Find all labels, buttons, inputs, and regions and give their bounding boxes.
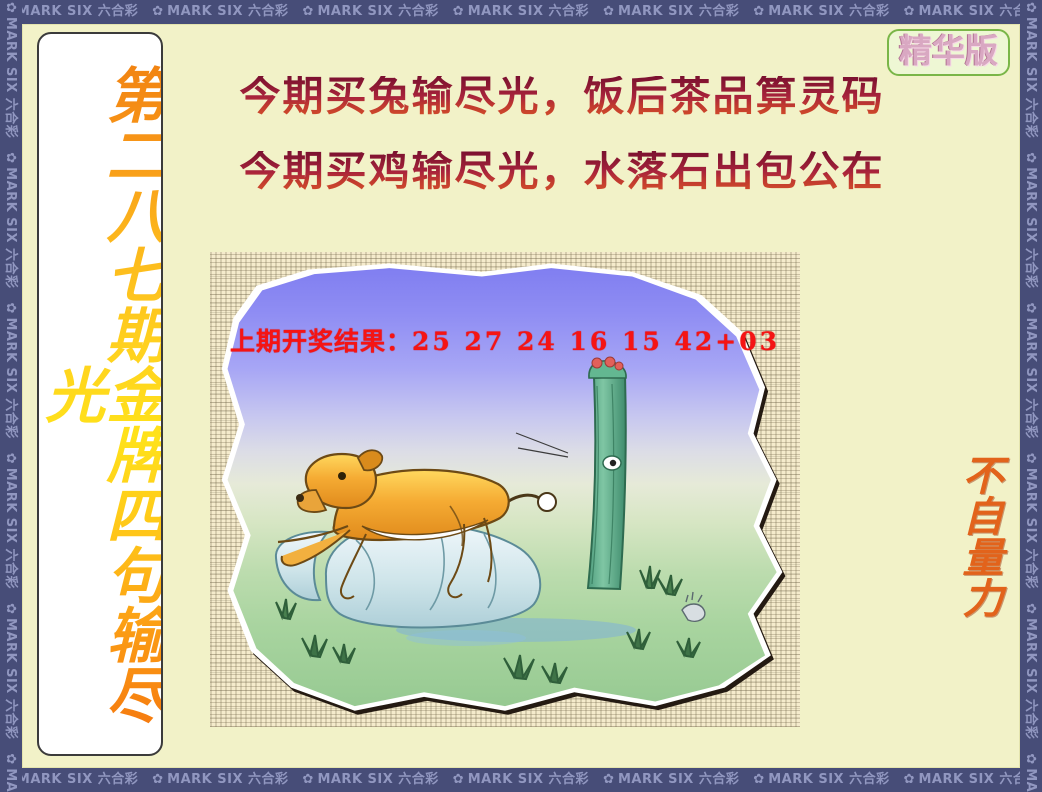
flower-icon: ✿	[3, 2, 18, 13]
edition-badge: 精华版	[887, 29, 1010, 76]
marquee-band-left: ✿MARK SIX 六合彩✿MARK SIX 六合彩✿MARK SIX 六合彩✿…	[0, 0, 22, 792]
flower-icon: ✿	[3, 603, 18, 614]
marquee-unit-label: MARK SIX 六合彩	[167, 772, 288, 787]
marquee-unit: ✿MARK SIX 六合彩	[453, 773, 589, 786]
marquee-unit-label: MARK SIX 六合彩	[1023, 17, 1038, 138]
marquee-unit: ✿MARK SIX 六合彩	[1024, 152, 1037, 288]
flower-icon: ✿	[453, 4, 464, 19]
marquee-text-top: ✿MARK SIX 六合彩✿MARK SIX 六合彩✿MARK SIX 六合彩✿…	[2, 5, 1042, 18]
marquee-unit: ✿MARK SIX 六合彩	[4, 303, 17, 439]
previous-draw-result: 上期开奖结果：25 27 24 16 15 42+03	[216, 322, 794, 358]
marquee-unit-label: MARK SIX 六合彩	[167, 4, 288, 19]
marquee-unit-label: MARK SIX 六合彩	[3, 468, 18, 589]
flower-icon: ✿	[152, 4, 163, 19]
marquee-unit: ✿MARK SIX 六合彩	[303, 773, 439, 786]
flower-icon: ✿	[303, 4, 314, 19]
flower-icon: ✿	[904, 4, 915, 19]
marquee-text-bottom: ✿MARK SIX 六合彩✿MARK SIX 六合彩✿MARK SIX 六合彩✿…	[2, 773, 1042, 786]
result-numbers: 25 27 24 16 15 42+03	[412, 327, 780, 356]
marquee-unit: ✿MARK SIX 六合彩	[4, 152, 17, 288]
marquee-unit-label: MARK SIX 六合彩	[768, 4, 889, 19]
flower-icon: ✿	[603, 772, 614, 787]
issue-title-text: 第二八七期金牌四句输尽光	[39, 38, 161, 750]
flower-icon: ✿	[1023, 152, 1038, 163]
marquee-unit: ✿MARK SIX 六合彩	[1024, 753, 1037, 792]
marquee-unit-label: MARK SIX 六合彩	[1023, 768, 1038, 792]
illustration-area: 上期开奖结果：25 27 24 16 15 42+03	[210, 252, 800, 727]
flower-icon: ✿	[3, 303, 18, 314]
marquee-unit-label: MARK SIX 六合彩	[3, 317, 18, 438]
marquee-band-right: ✿MARK SIX 六合彩✿MARK SIX 六合彩✿MARK SIX 六合彩✿…	[1020, 0, 1042, 792]
flower-icon: ✿	[3, 152, 18, 163]
marquee-unit-label: MARK SIX 六合彩	[3, 17, 18, 138]
flower-icon: ✿	[1023, 2, 1038, 13]
marquee-unit: ✿MARK SIX 六合彩	[1024, 303, 1037, 439]
headline-block: 今期买兔输尽光，饭后茶品算灵码 今期买鸡输尽光，水落石出包公在	[182, 76, 942, 226]
marquee-unit-label: MARK SIX 六合彩	[468, 772, 589, 787]
flower-icon: ✿	[1023, 753, 1038, 764]
marquee-unit-label: MARK SIX 六合彩	[618, 772, 739, 787]
marquee-text-right: ✿MARK SIX 六合彩✿MARK SIX 六合彩✿MARK SIX 六合彩✿…	[1024, 2, 1037, 792]
marquee-unit-label: MARK SIX 六合彩	[1023, 468, 1038, 589]
marquee-unit-label: MARK SIX 六合彩	[3, 167, 18, 288]
poster-page: 第二八七期金牌四句输尽光 精华版 今期买兔输尽光，饭后茶品算灵码 今期买鸡输尽光…	[22, 24, 1020, 768]
headline-line-1: 今期买兔输尽光，饭后茶品算灵码	[182, 76, 942, 117]
flower-icon: ✿	[3, 753, 18, 764]
marquee-unit-label: MARK SIX 六合彩	[3, 768, 18, 792]
marquee-unit: ✿MARK SIX 六合彩	[4, 453, 17, 589]
marquee-text-left: ✿MARK SIX 六合彩✿MARK SIX 六合彩✿MARK SIX 六合彩✿…	[4, 2, 17, 792]
marquee-unit-label: MARK SIX 六合彩	[468, 4, 589, 19]
marquee-unit: ✿MARK SIX 六合彩	[4, 603, 17, 739]
headline-line-2: 今期买鸡输尽光，水落石出包公在	[182, 151, 942, 192]
marquee-unit: ✿MARK SIX 六合彩	[152, 5, 288, 18]
flower-icon: ✿	[1023, 303, 1038, 314]
flower-icon: ✿	[1023, 603, 1038, 614]
flower-icon: ✿	[603, 4, 614, 19]
flower-icon: ✿	[152, 772, 163, 787]
marquee-unit: ✿MARK SIX 六合彩	[1024, 453, 1037, 589]
marquee-unit: ✿MARK SIX 六合彩	[603, 773, 739, 786]
flower-icon: ✿	[1023, 453, 1038, 464]
marquee-band-bottom: ✿MARK SIX 六合彩✿MARK SIX 六合彩✿MARK SIX 六合彩✿…	[0, 768, 1042, 792]
issue-title-panel: 第二八七期金牌四句输尽光	[37, 32, 163, 756]
marquee-unit-label: MARK SIX 六合彩	[3, 618, 18, 739]
marquee-unit: ✿MARK SIX 六合彩	[453, 5, 589, 18]
marquee-unit: ✿MARK SIX 六合彩	[303, 5, 439, 18]
flower-icon: ✿	[3, 453, 18, 464]
marquee-unit-label: MARK SIX 六合彩	[1023, 618, 1038, 739]
flower-icon: ✿	[904, 772, 915, 787]
marquee-unit: ✿MARK SIX 六合彩	[1024, 2, 1037, 138]
marquee-unit: ✿MARK SIX 六合彩	[4, 2, 17, 138]
marquee-unit: ✿MARK SIX 六合彩	[753, 773, 889, 786]
marquee-unit: ✿MARK SIX 六合彩	[152, 773, 288, 786]
marquee-unit-label: MARK SIX 六合彩	[17, 4, 138, 19]
flower-icon: ✿	[753, 4, 764, 19]
marquee-unit: ✿MARK SIX 六合彩	[753, 5, 889, 18]
marquee-unit: ✿MARK SIX 六合彩	[2, 773, 138, 786]
marquee-unit-label: MARK SIX 六合彩	[317, 4, 438, 19]
flower-icon: ✿	[753, 772, 764, 787]
marquee-unit: ✿MARK SIX 六合彩	[603, 5, 739, 18]
poster-canvas: ✿MARK SIX 六合彩✿MARK SIX 六合彩✿MARK SIX 六合彩✿…	[0, 0, 1042, 792]
torn-paper-cutout: 上期开奖结果：25 27 24 16 15 42+03	[216, 258, 794, 720]
flower-icon: ✿	[303, 772, 314, 787]
marquee-unit-label: MARK SIX 六合彩	[768, 772, 889, 787]
marquee-unit-label: MARK SIX 六合彩	[17, 772, 138, 787]
marquee-unit-label: MARK SIX 六合彩	[1023, 167, 1038, 288]
marquee-unit-label: MARK SIX 六合彩	[618, 4, 739, 19]
marquee-unit: ✿MARK SIX 六合彩	[4, 753, 17, 792]
marquee-unit-label: MARK SIX 六合彩	[317, 772, 438, 787]
marquee-unit-label: MARK SIX 六合彩	[1023, 317, 1038, 438]
marquee-unit: ✿MARK SIX 六合彩	[2, 5, 138, 18]
result-label: 上期开奖结果：	[230, 327, 412, 356]
slogan-vertical-text: 不自量力	[922, 454, 1000, 618]
marquee-unit: ✿MARK SIX 六合彩	[1024, 603, 1037, 739]
marquee-band-top: ✿MARK SIX 六合彩✿MARK SIX 六合彩✿MARK SIX 六合彩✿…	[0, 0, 1042, 24]
flower-icon: ✿	[453, 772, 464, 787]
